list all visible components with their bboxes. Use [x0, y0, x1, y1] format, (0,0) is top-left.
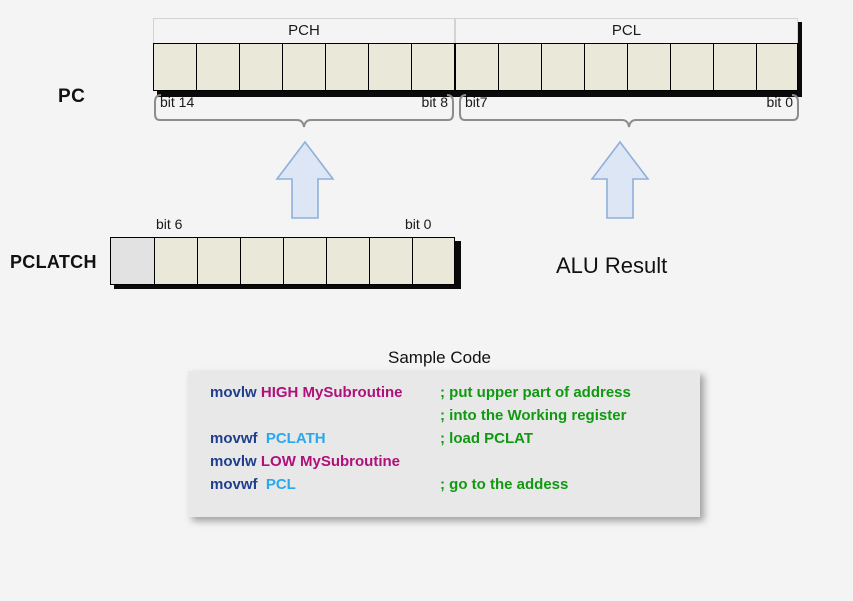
code-comment-1: ; put upper part of address	[440, 384, 631, 401]
pclatch-cell-bit3	[283, 237, 326, 285]
pcl-cell-bit0	[756, 43, 798, 91]
code-comment-3: ; load PCLAT	[440, 430, 533, 447]
code-register: PCL	[266, 476, 296, 493]
up-arrow-icon	[589, 140, 651, 220]
pcl-lsb-label: bit 0	[767, 94, 793, 110]
code-register: PCLATH	[266, 430, 326, 447]
code-line-4: movlw LOW MySubroutine	[210, 453, 400, 470]
code-comment: ; go to the addess	[440, 476, 568, 493]
alu-to-pcl-arrow	[589, 140, 651, 225]
pclatch-label: PCLATCH	[10, 252, 97, 273]
pclatch-cell-unimplemented	[110, 237, 154, 285]
pclatch-cell-bit1	[369, 237, 412, 285]
code-comment-5: ; go to the addess	[440, 476, 568, 493]
code-operand: HIGH MySubroutine	[261, 384, 403, 401]
pch-cell-bit9	[368, 43, 411, 91]
code-line-3: movwf PCLATH	[210, 430, 326, 447]
pclatch-cell-bit5	[197, 237, 240, 285]
code-opcode: movwf	[210, 476, 266, 493]
sample-code-box: movlw HIGH MySubroutine ; put upper part…	[188, 371, 700, 517]
pclatch-lsb-label: bit 0	[405, 216, 431, 232]
pcl-cell-bit3	[627, 43, 670, 91]
pclatch-cell-bit4	[240, 237, 283, 285]
pch-cell-bit12	[239, 43, 282, 91]
pcl-cell-bit1	[713, 43, 756, 91]
pcl-cell-row	[455, 43, 798, 91]
code-operand: LOW MySubroutine	[261, 453, 400, 470]
code-line-1: movlw HIGH MySubroutine	[210, 384, 403, 401]
pclatch-cell-bit6	[154, 237, 197, 285]
pcl-cell-bit7	[455, 43, 498, 91]
code-comment-2: ; into the Working register	[440, 407, 626, 424]
sample-code-title: Sample Code	[388, 348, 491, 368]
pclatch-to-pch-arrow	[274, 140, 336, 225]
pch-header: PCH	[153, 18, 455, 43]
pcl-cell-bit4	[584, 43, 627, 91]
pch-msb-label: bit 14	[160, 94, 194, 110]
pclatch-cell-bit2	[326, 237, 369, 285]
diagram-canvas: PC PCH PCL	[0, 0, 853, 601]
pcl-bit-range-brace: bit7 bit 0	[458, 94, 800, 134]
pch-cell-bit13	[196, 43, 239, 91]
alu-result-label: ALU Result	[556, 253, 667, 279]
code-comment: ; put upper part of address	[440, 384, 631, 401]
pcl-cell-bit6	[498, 43, 541, 91]
pch-bit-range-brace: bit 14 bit 8	[153, 94, 455, 134]
pch-cell-bit10	[325, 43, 368, 91]
pch-cell-row	[153, 43, 455, 91]
pclatch-cell-row	[110, 237, 455, 285]
pcl-brace-labels: bit7 bit 0	[458, 94, 800, 114]
pcl-header: PCL	[455, 18, 798, 43]
pch-lsb-label: bit 8	[422, 94, 448, 110]
pcl-cell-bit2	[670, 43, 713, 91]
code-comment: ; load PCLAT	[440, 430, 533, 447]
code-opcode: movlw	[210, 453, 261, 470]
pch-cell-bit14	[153, 43, 196, 91]
code-opcode: movwf	[210, 430, 266, 447]
pclatch-cell-bit0	[412, 237, 455, 285]
pch-cell-bit11	[282, 43, 325, 91]
pch-brace-labels: bit 14 bit 8	[153, 94, 455, 114]
pch-cell-bit8	[411, 43, 455, 91]
pclatch-msb-label: bit 6	[156, 216, 182, 232]
pcl-msb-label: bit7	[465, 94, 488, 110]
code-comment: ; into the Working register	[440, 407, 626, 424]
code-opcode: movlw	[210, 384, 261, 401]
pcl-cell-bit5	[541, 43, 584, 91]
pclatch-shadow-right	[455, 241, 461, 289]
code-line-5: movwf PCL	[210, 476, 296, 493]
up-arrow-icon	[274, 140, 336, 220]
pc-label: PC	[58, 86, 85, 108]
